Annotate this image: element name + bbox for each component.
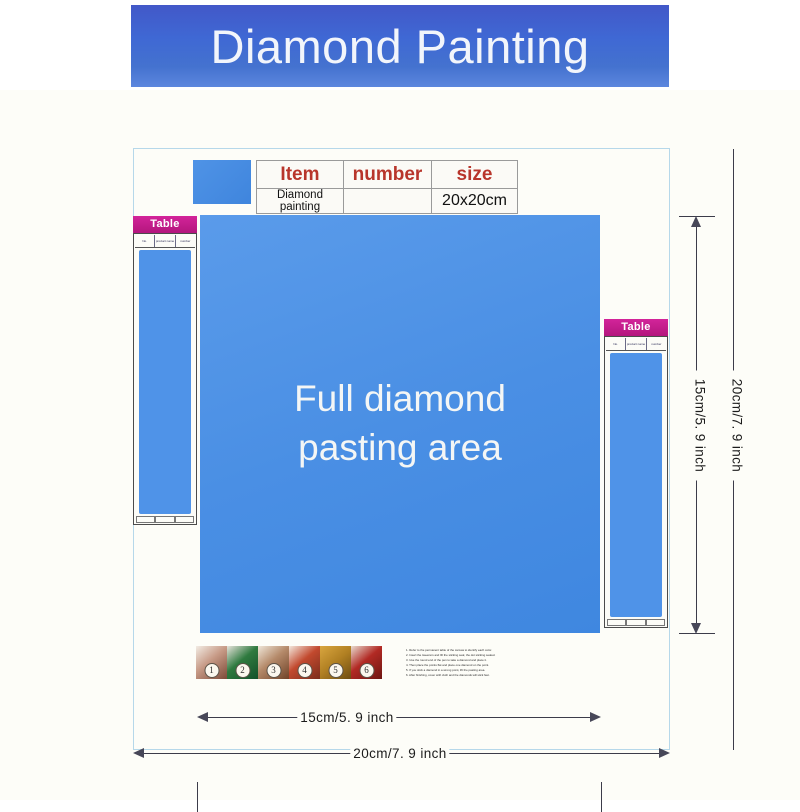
mini-foot-cell: [155, 516, 174, 523]
mini-table-right-footer: [607, 619, 665, 626]
mini-col-no: No.: [606, 338, 626, 350]
hdim-inner-arrow-left: [197, 712, 208, 722]
vdim-inner-arrow-top: [691, 216, 701, 227]
hdim-inner-tick-left: [197, 782, 198, 812]
color-swatch: [193, 160, 251, 204]
mini-table-left: Table No. product name number: [133, 216, 197, 525]
hdim-inner-line: [201, 717, 597, 718]
instruction-line: 2. Insert the tweezers and lift the stic…: [406, 653, 514, 658]
mini-col-name: product name: [626, 338, 646, 350]
mini-table-left-header: No. product name number: [135, 235, 195, 248]
mini-foot-cell: [175, 516, 194, 523]
instruction-thumbnail-strip: 1 2 3 4 5 6: [196, 646, 404, 679]
mini-table-right-sheet: No. product name number: [604, 336, 668, 628]
spec-cell-number: [343, 189, 431, 214]
instruction-thumb-6: 6: [351, 646, 382, 679]
vdim-outer-label: 20cm/7. 9 inch: [730, 371, 745, 481]
spec-cell-size: 20x20cm: [432, 189, 518, 214]
hdim-inner-label: 15cm/5. 9 inch: [297, 710, 396, 725]
paste-area-label-line2: pasting area: [298, 424, 502, 473]
instruction-line: 1. Refer to the permanent table of the c…: [406, 648, 514, 653]
hdim-inner-tick-right: [601, 782, 602, 812]
spec-cell-item: Diamond painting: [257, 189, 344, 214]
spec-header-number: number: [343, 161, 431, 189]
mini-foot-cell: [607, 619, 626, 626]
mini-foot-cell: [646, 619, 665, 626]
instruction-step-number: 2: [235, 663, 250, 678]
instruction-thumb-2: 2: [227, 646, 258, 679]
spec-table-header-row: Item number size: [257, 161, 518, 189]
instruction-step-number: 1: [204, 663, 219, 678]
spec-header-item: Item: [257, 161, 344, 189]
instruction-thumb-4: 4: [289, 646, 320, 679]
full-diamond-pasting-area: Full diamond pasting area: [200, 215, 600, 633]
instruction-line: 4. Then place the points flat and place …: [406, 663, 514, 668]
product-size-diagram: Item number size Diamond painting 20x20c…: [0, 90, 800, 800]
mini-table-left-badge: Table: [133, 216, 197, 233]
instruction-line: 3. Use the round end of the pen to take …: [406, 658, 514, 663]
instruction-step-number: 4: [297, 663, 312, 678]
mini-table-left-footer: [136, 516, 194, 523]
hdim-outer-arrow-right: [659, 748, 670, 758]
vdim-inner-label: 15cm/5. 9 inch: [693, 371, 708, 481]
mini-table-left-sheet: No. product name number: [133, 233, 197, 525]
page-title: Diamond Painting: [211, 23, 590, 70]
mini-foot-cell: [626, 619, 645, 626]
vdim-inner-arrow-bottom: [691, 623, 701, 634]
instruction-step-number: 5: [328, 663, 343, 678]
hdim-outer-label: 20cm/7. 9 inch: [350, 746, 449, 761]
mini-col-no: No.: [135, 235, 155, 247]
header-banner: Diamond Painting: [131, 5, 669, 87]
spec-table-row: Diamond painting 20x20cm: [257, 189, 518, 214]
mini-col-name: product name: [155, 235, 175, 247]
instruction-text-block: 1. Refer to the permanent table of the c…: [406, 647, 514, 678]
instruction-step-number: 6: [359, 663, 374, 678]
mini-table-right: Table No. product name number: [604, 319, 668, 628]
instruction-line: 6. After finishing, cover with cloth and…: [406, 673, 514, 678]
instruction-thumb-5: 5: [320, 646, 351, 679]
hdim-outer-arrow-left: [133, 748, 144, 758]
mini-table-right-fill: [610, 353, 662, 617]
mini-table-right-header: No. product name number: [606, 338, 666, 351]
spec-table: Item number size Diamond painting 20x20c…: [256, 160, 518, 214]
instruction-thumb-1: 1: [196, 646, 227, 679]
instruction-thumb-3: 3: [258, 646, 289, 679]
mini-col-number: number: [647, 338, 666, 350]
instruction-line: 5. If you stick a diamond in a wrong poi…: [406, 668, 514, 673]
spec-header-size: size: [432, 161, 518, 189]
mini-foot-cell: [136, 516, 155, 523]
instruction-step-number: 3: [266, 663, 281, 678]
paste-area-label-line1: Full diamond: [294, 375, 506, 424]
mini-table-right-badge: Table: [604, 319, 668, 336]
hdim-inner-arrow-right: [590, 712, 601, 722]
mini-col-number: number: [176, 235, 195, 247]
mini-table-left-fill: [139, 250, 191, 514]
